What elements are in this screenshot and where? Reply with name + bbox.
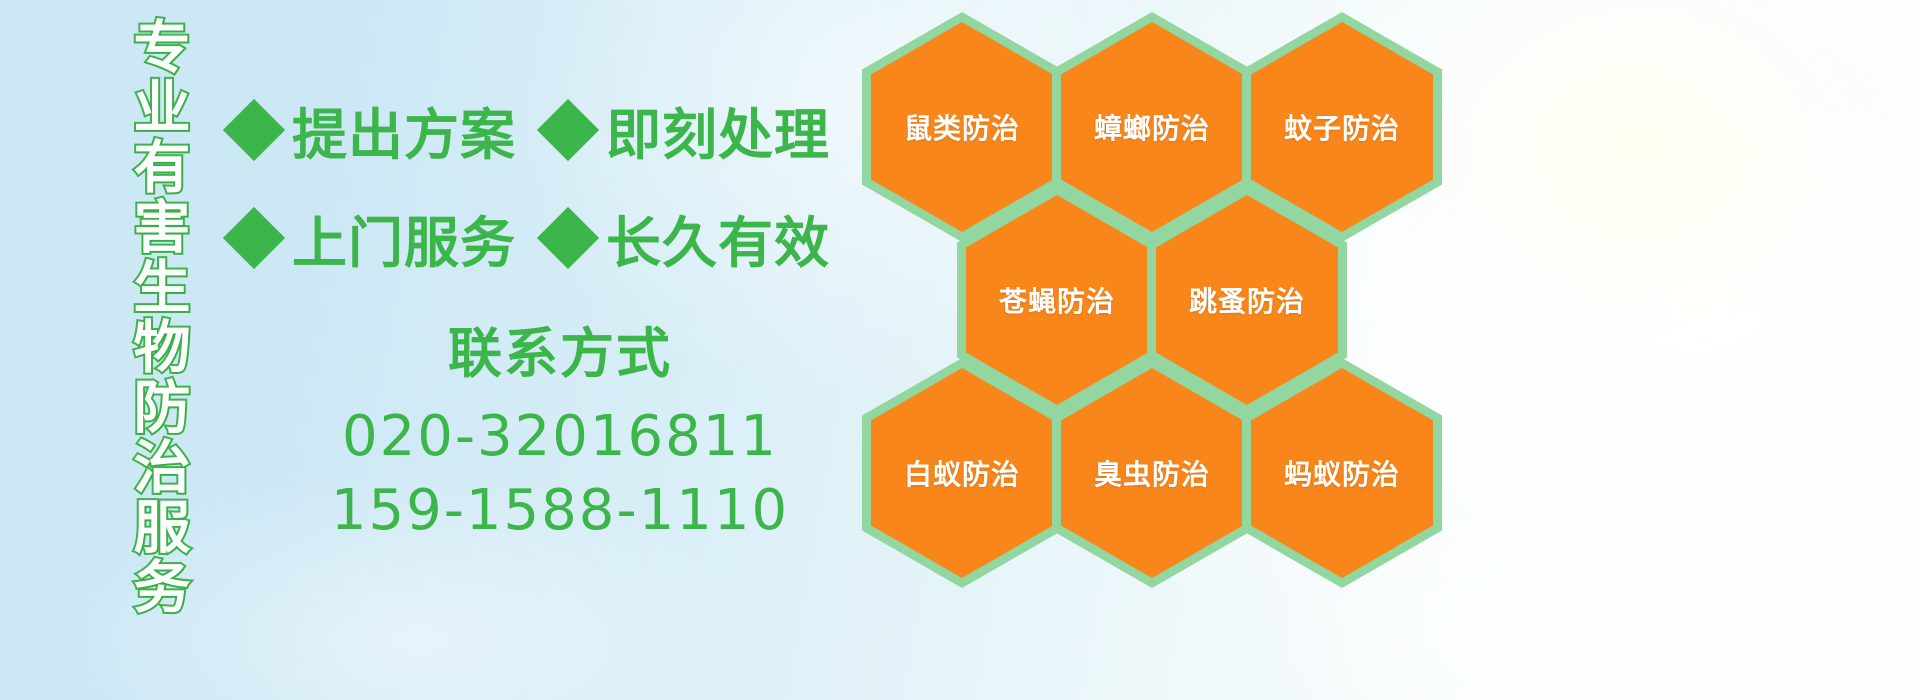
background-bloom-right <box>1380 0 1900 360</box>
contact-title: 联系方式 <box>300 318 820 390</box>
feature-label: 长久有效 <box>606 198 830 278</box>
hex-label: 鼠类防治 <box>904 107 1020 147</box>
feature-label: 上门服务 <box>292 198 516 278</box>
diamond-icon <box>537 207 599 269</box>
feature-label: 提出方案 <box>292 90 516 170</box>
contact-block: 联系方式 020-32016811 159-1588-1110 <box>300 318 820 548</box>
feature-item-onsite-service: 上门服务 <box>232 198 516 278</box>
hex-label: 蚂蚁防治 <box>1284 453 1400 493</box>
hex-inner: 跳蚤防治 <box>1156 195 1338 405</box>
hex-label: 苍蝇防治 <box>999 280 1115 320</box>
vertical-title-char: 务 <box>134 558 191 618</box>
diamond-icon <box>223 99 285 161</box>
pest-control-banner: 专 业 有 害 生 物 防 治 服 务 提出方案 即刻处理 上门服务 <box>0 0 1920 700</box>
hex-inner: 蚂蚁防治 <box>1251 368 1433 578</box>
hex-label: 蚊子防治 <box>1284 107 1400 147</box>
feature-item-long-lasting: 长久有效 <box>546 198 830 278</box>
diamond-icon <box>537 99 599 161</box>
hex-inner: 白蚁防治 <box>871 368 1053 578</box>
vertical-title-char: 治 <box>134 438 191 498</box>
vertical-title-char: 服 <box>134 498 191 558</box>
hex-label: 蟑螂防治 <box>1094 107 1210 147</box>
hex-inner: 苍蝇防治 <box>966 195 1148 405</box>
feature-row: 上门服务 长久有效 <box>232 184 872 292</box>
phone-mobile[interactable]: 159-1588-1110 <box>300 474 820 548</box>
vertical-title-char: 有 <box>134 138 191 198</box>
vertical-title-char: 业 <box>134 78 191 138</box>
diamond-icon <box>223 207 285 269</box>
hex-inner: 鼠类防治 <box>871 22 1053 232</box>
feature-item-propose-plan: 提出方案 <box>232 90 516 170</box>
hex-label: 白蚁防治 <box>904 453 1020 493</box>
vertical-title-char: 物 <box>134 318 191 378</box>
vertical-title-char: 防 <box>134 378 191 438</box>
hex-label: 跳蚤防治 <box>1189 280 1305 320</box>
feature-label: 即刻处理 <box>606 90 830 170</box>
hex-label: 臭虫防治 <box>1094 453 1210 493</box>
phone-landline[interactable]: 020-32016811 <box>300 400 820 474</box>
feature-row: 提出方案 即刻处理 <box>232 76 872 184</box>
vertical-title-char: 专 <box>134 18 191 78</box>
feature-list: 提出方案 即刻处理 上门服务 长久有效 <box>232 76 872 292</box>
feature-item-immediate-action: 即刻处理 <box>546 90 830 170</box>
hex-inner: 蟑螂防治 <box>1061 22 1243 232</box>
hex-inner: 蚊子防治 <box>1251 22 1433 232</box>
vertical-title-char: 害 <box>134 198 191 258</box>
hex-inner: 臭虫防治 <box>1061 368 1243 578</box>
vertical-title-char: 生 <box>134 258 191 318</box>
honeycomb-service-grid: 鼠类防治 蟑螂防治 蚊子防治 苍蝇防治 跳蚤防治 白蚁防治 <box>862 4 1442 564</box>
vertical-title: 专 业 有 害 生 物 防 治 服 务 <box>104 18 220 578</box>
